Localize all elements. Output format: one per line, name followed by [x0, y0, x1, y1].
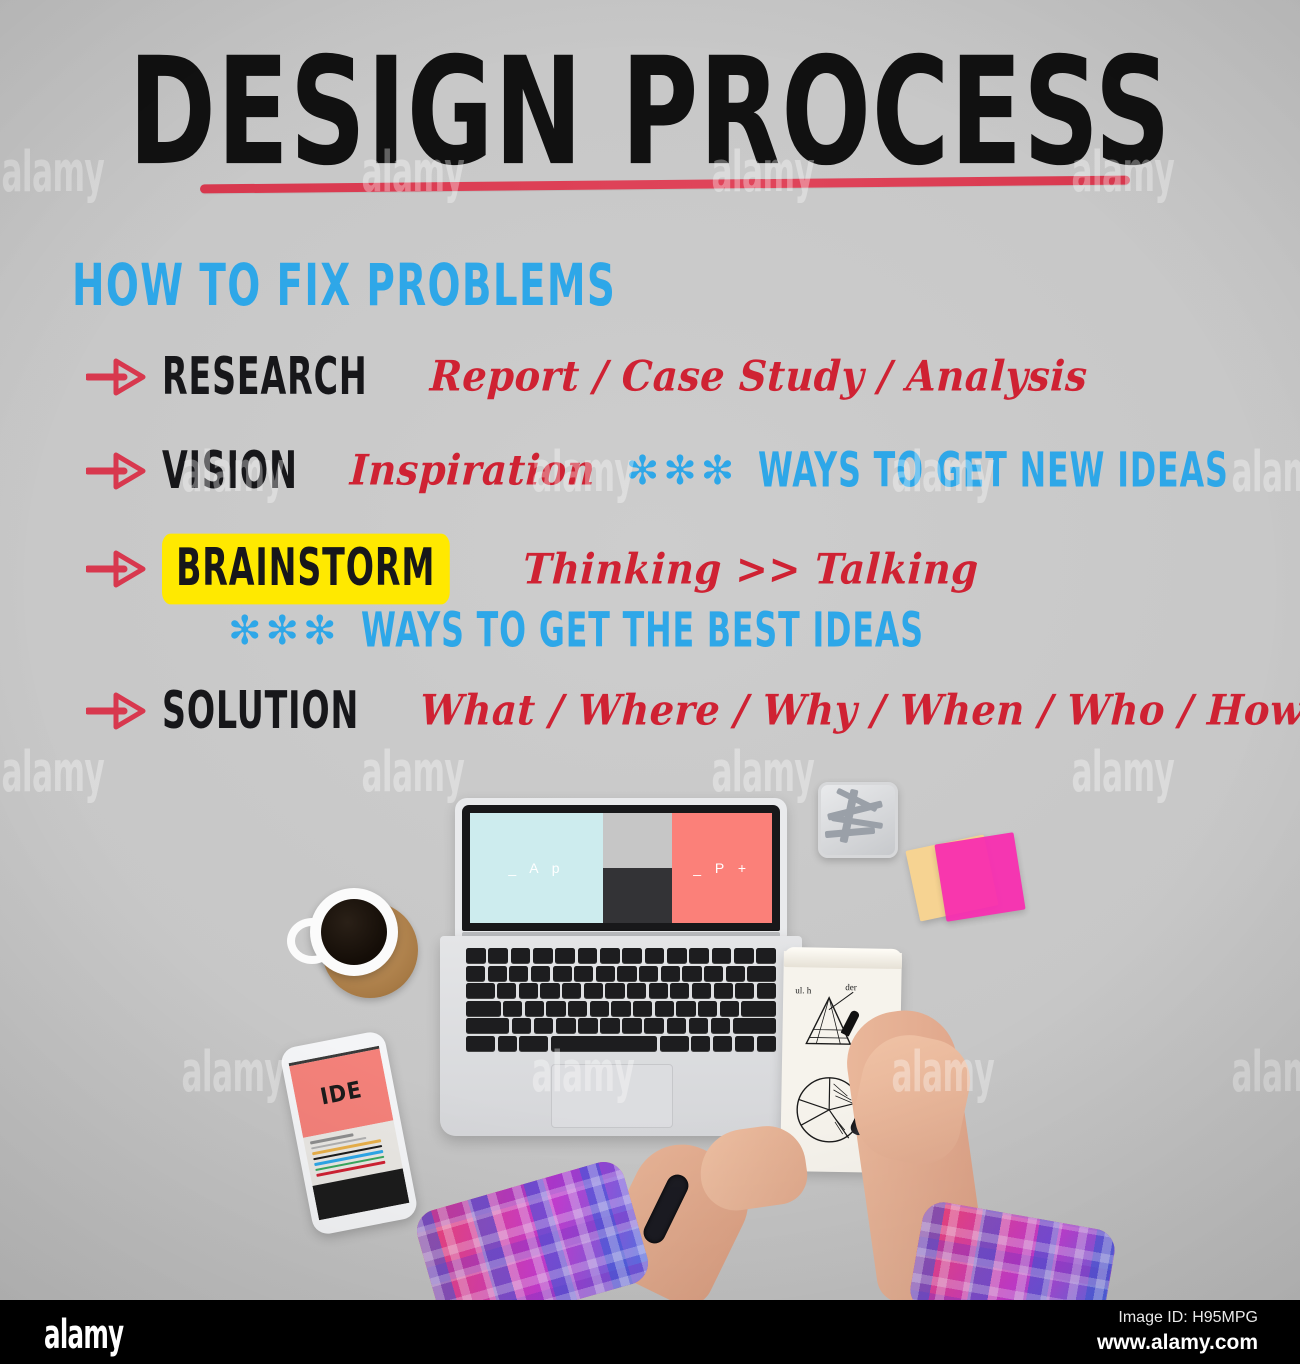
- step-row-brainstorm: BRAINSTORM Thinking >> Talking: [86, 540, 997, 598]
- coffee-liquid: [321, 899, 387, 965]
- arrow-icon: [86, 451, 148, 491]
- step-detail-blue-brainstorm: WAYS TO GET THE BEST IDEAS: [361, 603, 924, 658]
- step-label-brainstorm: BRAINSTORM: [162, 534, 449, 605]
- step-detail-blue-vision: WAYS TO GET NEW IDEAS: [758, 443, 1229, 498]
- screen-panel-coral: _ P +: [672, 813, 772, 923]
- poster-subtitle: HOW TO FIX PROBLEMS: [72, 252, 616, 319]
- arrow-icon: [86, 357, 148, 397]
- alamy-logo: alamy: [44, 1312, 123, 1358]
- phone-screen: IDE: [289, 1046, 410, 1221]
- step-detail-vision: Inspiration: [349, 446, 597, 495]
- laptop-keyboard: [466, 948, 776, 1052]
- stars-marker-vision: ✻✻✻: [626, 448, 739, 494]
- step-detail-brainstorm: Thinking >> Talking: [521, 544, 979, 593]
- step-label-vision: VISION: [162, 441, 298, 501]
- svg-text:ul. h: ul. h: [795, 985, 812, 995]
- image-id-label: Image ID: H95MPG: [1118, 1309, 1258, 1327]
- coffee-cup: [310, 888, 398, 976]
- step-detail-solution: What / Where / Why / When / Who / How: [419, 686, 1300, 735]
- step-row-research: RESEARCH Report / Case Study / Analysis: [86, 352, 1114, 401]
- step-row-brainstorm-second-line: ✻✻✻ WAYS TO GET THE BEST IDEAS: [228, 608, 1000, 654]
- step-label-solution: SOLUTION: [162, 681, 359, 741]
- laptop-base: [440, 936, 802, 1136]
- screen-panel-cyan: _ A p: [470, 813, 603, 923]
- screen-left-label: _ A p: [470, 860, 603, 876]
- screen-panel-dark: [603, 868, 672, 923]
- screen-panel-gray: [603, 813, 672, 868]
- laptop-trackpad: [551, 1064, 673, 1128]
- stock-photo: DESIGN PROCESS HOW TO FIX PROBLEMS RESEA…: [0, 0, 1300, 1300]
- arrow-icon: [86, 691, 148, 731]
- svg-text:der: der: [845, 982, 857, 992]
- stars-marker-brainstorm: ✻✻✻: [228, 608, 341, 654]
- step-detail-research: Report / Case Study / Analysis: [428, 352, 1088, 401]
- right-plaid-sleeve: [907, 1199, 1118, 1300]
- notepad-page-curl: [784, 947, 902, 969]
- step-label-research: RESEARCH: [162, 347, 368, 407]
- laptop-lid: _ A p _ P +: [455, 798, 787, 938]
- step-row-vision: VISION Inspiration ✻✻✻ WAYS TO GET NEW I…: [86, 446, 1293, 495]
- paperclip-holder: [818, 782, 898, 858]
- screen-panel-middle: [603, 813, 672, 923]
- left-plaid-sleeve: [412, 1157, 653, 1300]
- alamy-footer-bar: alamy Image ID: H95MPG www.alamy.com: [0, 1300, 1300, 1364]
- screen-right-label: _ P +: [672, 860, 772, 876]
- desk-scene: IDE _ A p: [0, 760, 1300, 1300]
- laptop-screen: _ A p _ P +: [462, 805, 780, 931]
- page-title: DESIGN PROCESS: [46, 38, 1255, 187]
- sticky-note-pink: [934, 832, 1025, 922]
- smartphone: IDE: [279, 1030, 419, 1237]
- website-label: www.alamy.com: [1097, 1331, 1258, 1355]
- step-row-solution: SOLUTION What / Where / Why / When / Who…: [86, 686, 1300, 735]
- arrow-icon: [86, 549, 148, 589]
